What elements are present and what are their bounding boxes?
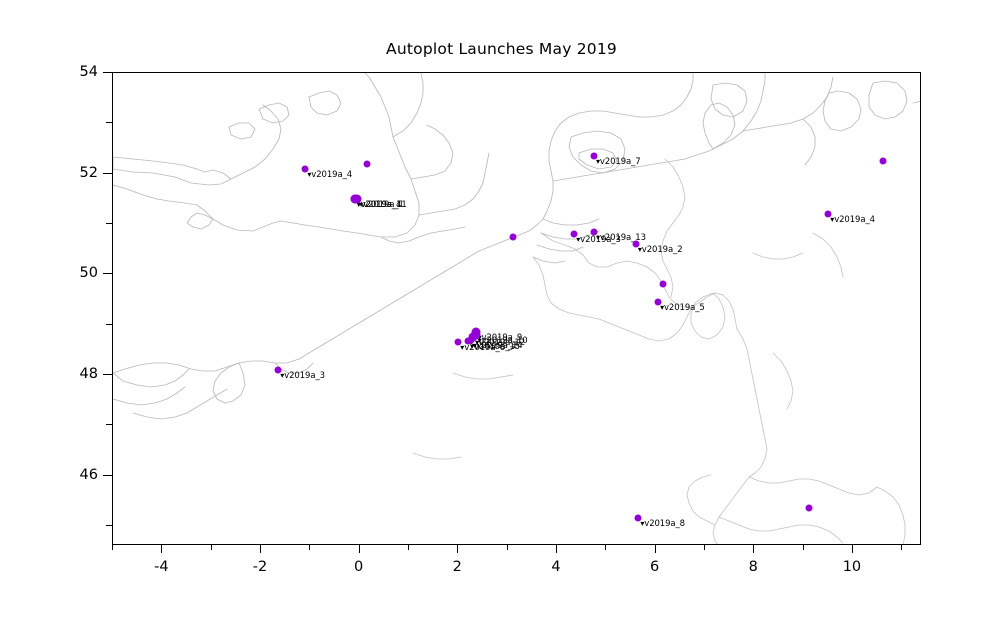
x-axis-major-tick: [457, 545, 458, 553]
data-point-label-text: v2019a_5: [664, 303, 705, 313]
plot-area[interactable]: ▾v2019a_4▾v2019a_4▾v2019a_11▾v2019a_1▾v2…: [112, 72, 921, 545]
data-point-marker[interactable]: [364, 160, 371, 167]
y-axis-major-tick: [103, 273, 112, 274]
x-axis-major-tick: [556, 545, 557, 553]
x-axis-tick-label: 8: [749, 559, 758, 575]
y-axis-minor-tick: [106, 122, 112, 123]
coastline-group: [113, 73, 921, 419]
data-point-label-text: v2019a_15: [474, 342, 520, 352]
x-axis-major-tick: [852, 545, 853, 553]
x-axis-tick-label: -2: [253, 559, 267, 575]
data-point-label-text: v2019a_4: [311, 170, 352, 180]
x-axis-minor-tick: [901, 545, 902, 550]
x-axis-minor-tick: [408, 545, 409, 550]
x-axis-minor-tick: [704, 545, 705, 550]
y-axis-minor-tick: [106, 424, 112, 425]
data-point-label: ▾v2019a_1: [359, 200, 404, 210]
x-axis-tick-label: 0: [354, 559, 363, 575]
data-point-marker[interactable]: [879, 158, 886, 165]
page-title: Autoplot Launches May 2019: [0, 40, 1003, 58]
x-axis-major-tick: [359, 545, 360, 553]
data-point-label-text: v2019a_2: [642, 245, 683, 255]
y-axis-major-tick: [103, 173, 112, 174]
x-axis-minor-tick: [803, 545, 804, 550]
x-axis-tick-label: -4: [154, 559, 168, 575]
data-point-label: ▾v2019a_4: [830, 215, 875, 225]
y-axis-major-tick: [103, 374, 112, 375]
x-axis-minor-tick: [309, 545, 310, 550]
y-axis-minor-tick: [106, 223, 112, 224]
data-point-label: ▾v2019a_2: [638, 245, 683, 255]
y-axis-major-tick: [103, 72, 112, 73]
x-axis-major-tick: [753, 545, 754, 553]
data-point-label: ▾v2019a_3: [280, 371, 325, 381]
data-point-label-text: v2019a_4: [834, 215, 875, 225]
data-point-label-text: v2019a_3: [284, 371, 325, 381]
x-axis-major-tick: [260, 545, 261, 553]
data-point-marker[interactable]: [660, 281, 667, 288]
x-axis-tick-label: 4: [551, 559, 560, 575]
x-axis-minor-tick: [211, 545, 212, 550]
x-axis-tick-label: 10: [843, 559, 861, 575]
data-point-label-text: v2019a_13: [600, 233, 646, 243]
data-point-label-text: v2019a_7: [600, 157, 641, 167]
figure-canvas: Autoplot Launches May 2019: [0, 0, 1003, 633]
data-point-label-text: v2019a_1: [363, 200, 404, 210]
data-point-label: ▾v2019a_5: [660, 303, 705, 313]
y-axis-major-tick: [103, 475, 112, 476]
x-axis-minor-tick: [605, 545, 606, 550]
x-axis-tick-label: 2: [453, 559, 462, 575]
x-axis-minor-tick: [507, 545, 508, 550]
x-axis-tick-label: 6: [650, 559, 659, 575]
y-axis-tick-label: 46: [54, 467, 98, 483]
y-axis-tick-label: 48: [54, 366, 98, 382]
data-point-label: ▾v2019a_7: [596, 157, 641, 167]
y-axis-tick-label: 54: [54, 64, 98, 80]
data-point-label: ▾v2019a_4: [307, 170, 352, 180]
data-point-label: ▾v2019a_15: [470, 342, 520, 352]
x-axis-major-tick: [161, 545, 162, 553]
basemap-coastlines: [113, 73, 921, 545]
data-point-marker[interactable]: [509, 233, 516, 240]
y-axis-tick-label: 50: [54, 265, 98, 281]
y-axis-minor-tick: [106, 525, 112, 526]
data-point-marker[interactable]: [805, 505, 812, 512]
x-axis-minor-tick: [112, 545, 113, 550]
y-axis-minor-tick: [106, 324, 112, 325]
x-axis-major-tick: [655, 545, 656, 553]
data-point-label-text: v2019a_8: [644, 519, 685, 529]
y-axis-tick-label: 52: [54, 165, 98, 181]
data-point-label: ▾v2019a_8: [640, 519, 685, 529]
